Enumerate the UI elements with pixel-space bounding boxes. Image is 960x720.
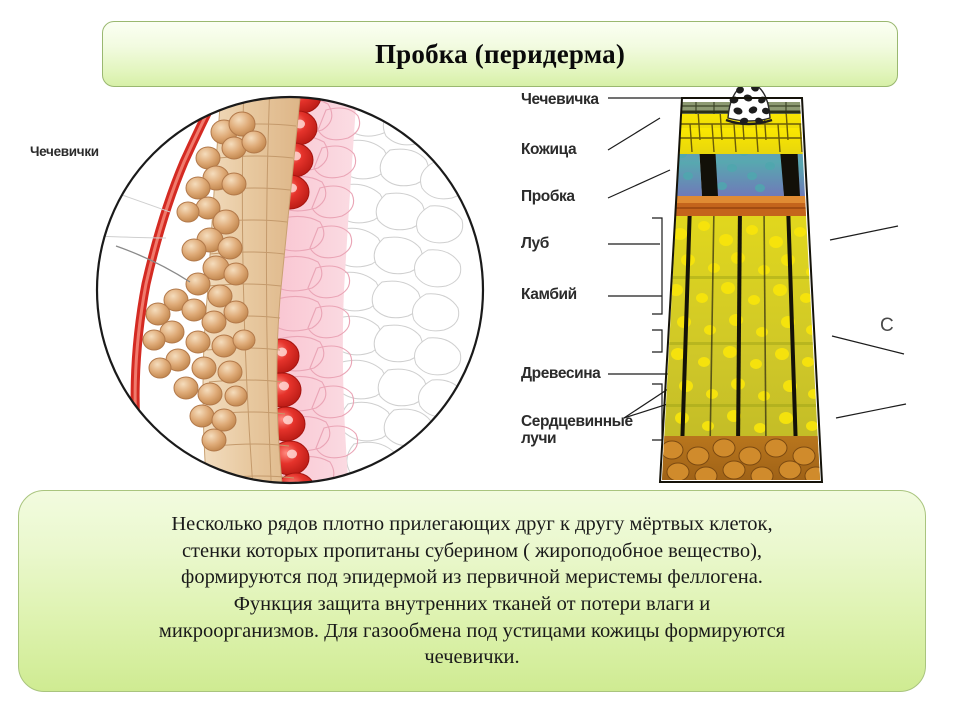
- cambium-highlight: [658, 196, 815, 203]
- label-cork: Пробка: [521, 188, 575, 205]
- label-lenticel: Чечевичка: [521, 91, 599, 108]
- label-cambium: Камбий: [521, 286, 577, 303]
- label-medullary-rays: Сердцевинные лучи: [521, 413, 633, 448]
- figure-left-micrograph: [58, 88, 488, 492]
- lenticel-opening: [726, 84, 772, 125]
- label-edge-letter: С: [880, 315, 894, 337]
- page-title: Пробка (перидерма): [375, 39, 625, 70]
- slide-title-box: Пробка (перидерма): [102, 21, 898, 87]
- label-epidermis: Кожица: [521, 141, 576, 158]
- label-bast: Луб: [521, 235, 549, 252]
- description-text: Несколько рядов плотно прилегающих друг …: [159, 511, 785, 671]
- label-wood: Древесина: [521, 365, 600, 382]
- label-lenticels-left: Чечевички: [30, 144, 99, 159]
- description-box: Несколько рядов плотно прилегающих друг …: [18, 490, 926, 692]
- slide-canvas: Чечевички: [0, 0, 960, 720]
